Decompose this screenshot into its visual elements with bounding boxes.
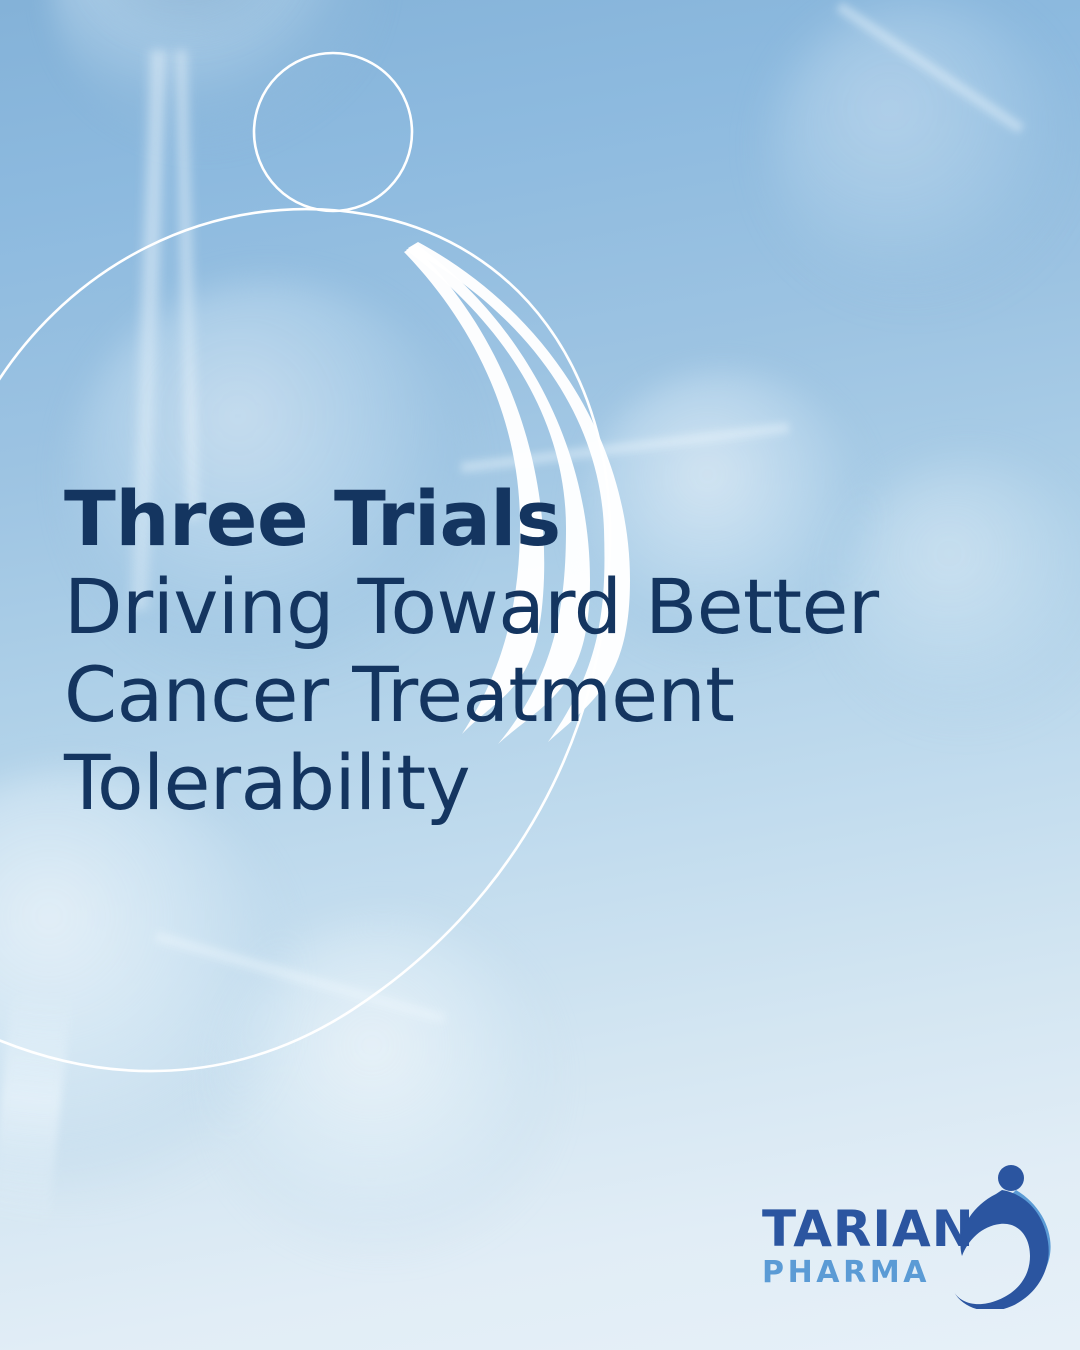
headline-line-2: Driving Toward Better bbox=[64, 563, 894, 651]
figure-head bbox=[998, 1165, 1024, 1191]
logo-wordmark: TARIAN PHARMA bbox=[762, 1204, 974, 1288]
headline-line-1: Three Trials bbox=[64, 475, 894, 563]
logo-brand-text: TARIAN bbox=[762, 1204, 974, 1254]
logo-subbrand-text: PHARMA bbox=[762, 1258, 974, 1288]
page-title: Three Trials Driving Toward Better Cance… bbox=[64, 475, 894, 827]
molecule-sphere-top-right bbox=[770, 0, 1070, 300]
brand-logo: TARIAN PHARMA bbox=[762, 1180, 1052, 1300]
poster-canvas: Three Trials Driving Toward Better Cance… bbox=[0, 0, 1080, 1350]
headline-line-3: Cancer Treatment bbox=[64, 651, 894, 739]
tarian-figure-icon bbox=[954, 1164, 1064, 1309]
headline-line-4: Tolerability bbox=[64, 739, 894, 827]
